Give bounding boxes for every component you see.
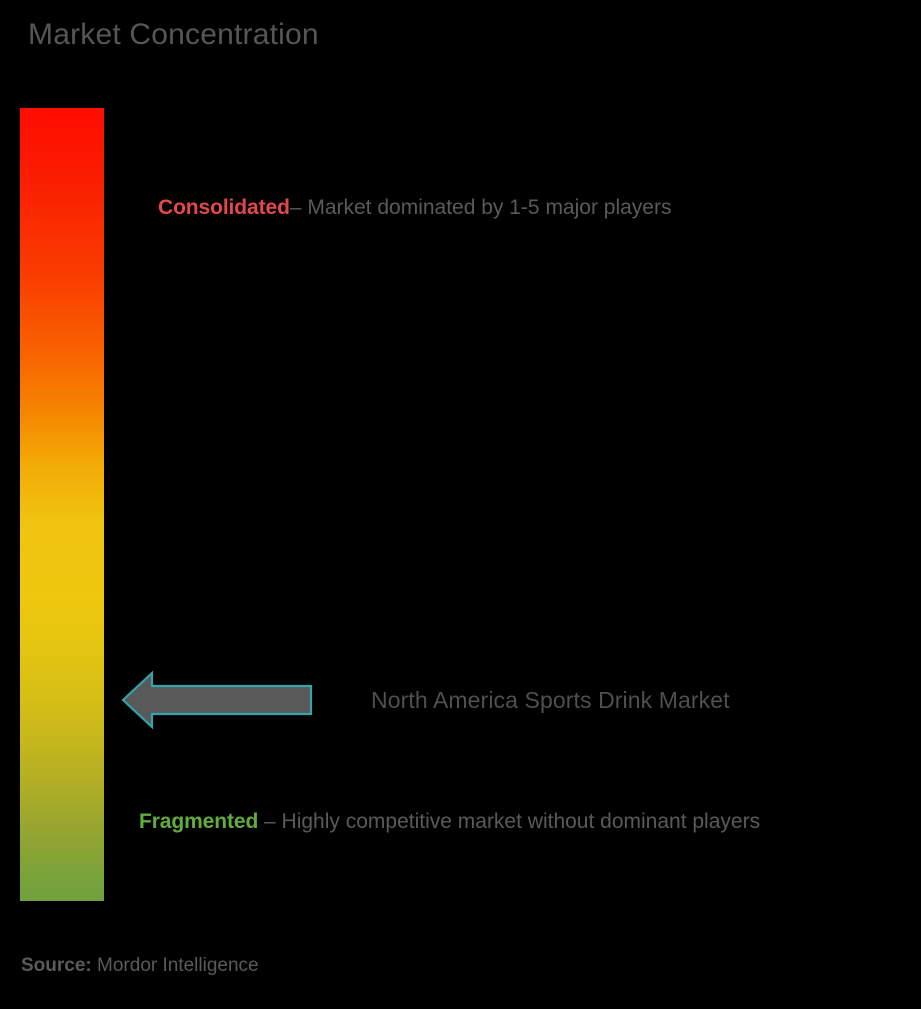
legend-keyword-consolidated: Consolidated bbox=[158, 196, 290, 219]
source-line: Source: Mordor Intelligence bbox=[21, 955, 259, 977]
legend-description-consolidated: – Market dominated by 1-5 major players bbox=[290, 196, 672, 219]
legend-row-fragmented: Fragmented – Highly competitive market w… bbox=[139, 795, 879, 848]
market-concentration-gradient-bar bbox=[20, 108, 104, 901]
source-value: Mordor Intelligence bbox=[92, 955, 259, 976]
page-title: Market Concentration bbox=[28, 18, 319, 52]
left-arrow-icon bbox=[121, 670, 313, 730]
legend-row-consolidated: Consolidated– Market dominated by 1-5 ma… bbox=[158, 193, 878, 223]
legend-description-fragmented: – Highly competitive market without domi… bbox=[258, 810, 760, 833]
legend-keyword-fragmented: Fragmented bbox=[139, 810, 258, 833]
marker-label: North America Sports Drink Market bbox=[371, 687, 730, 714]
source-label: Source: bbox=[21, 955, 92, 976]
